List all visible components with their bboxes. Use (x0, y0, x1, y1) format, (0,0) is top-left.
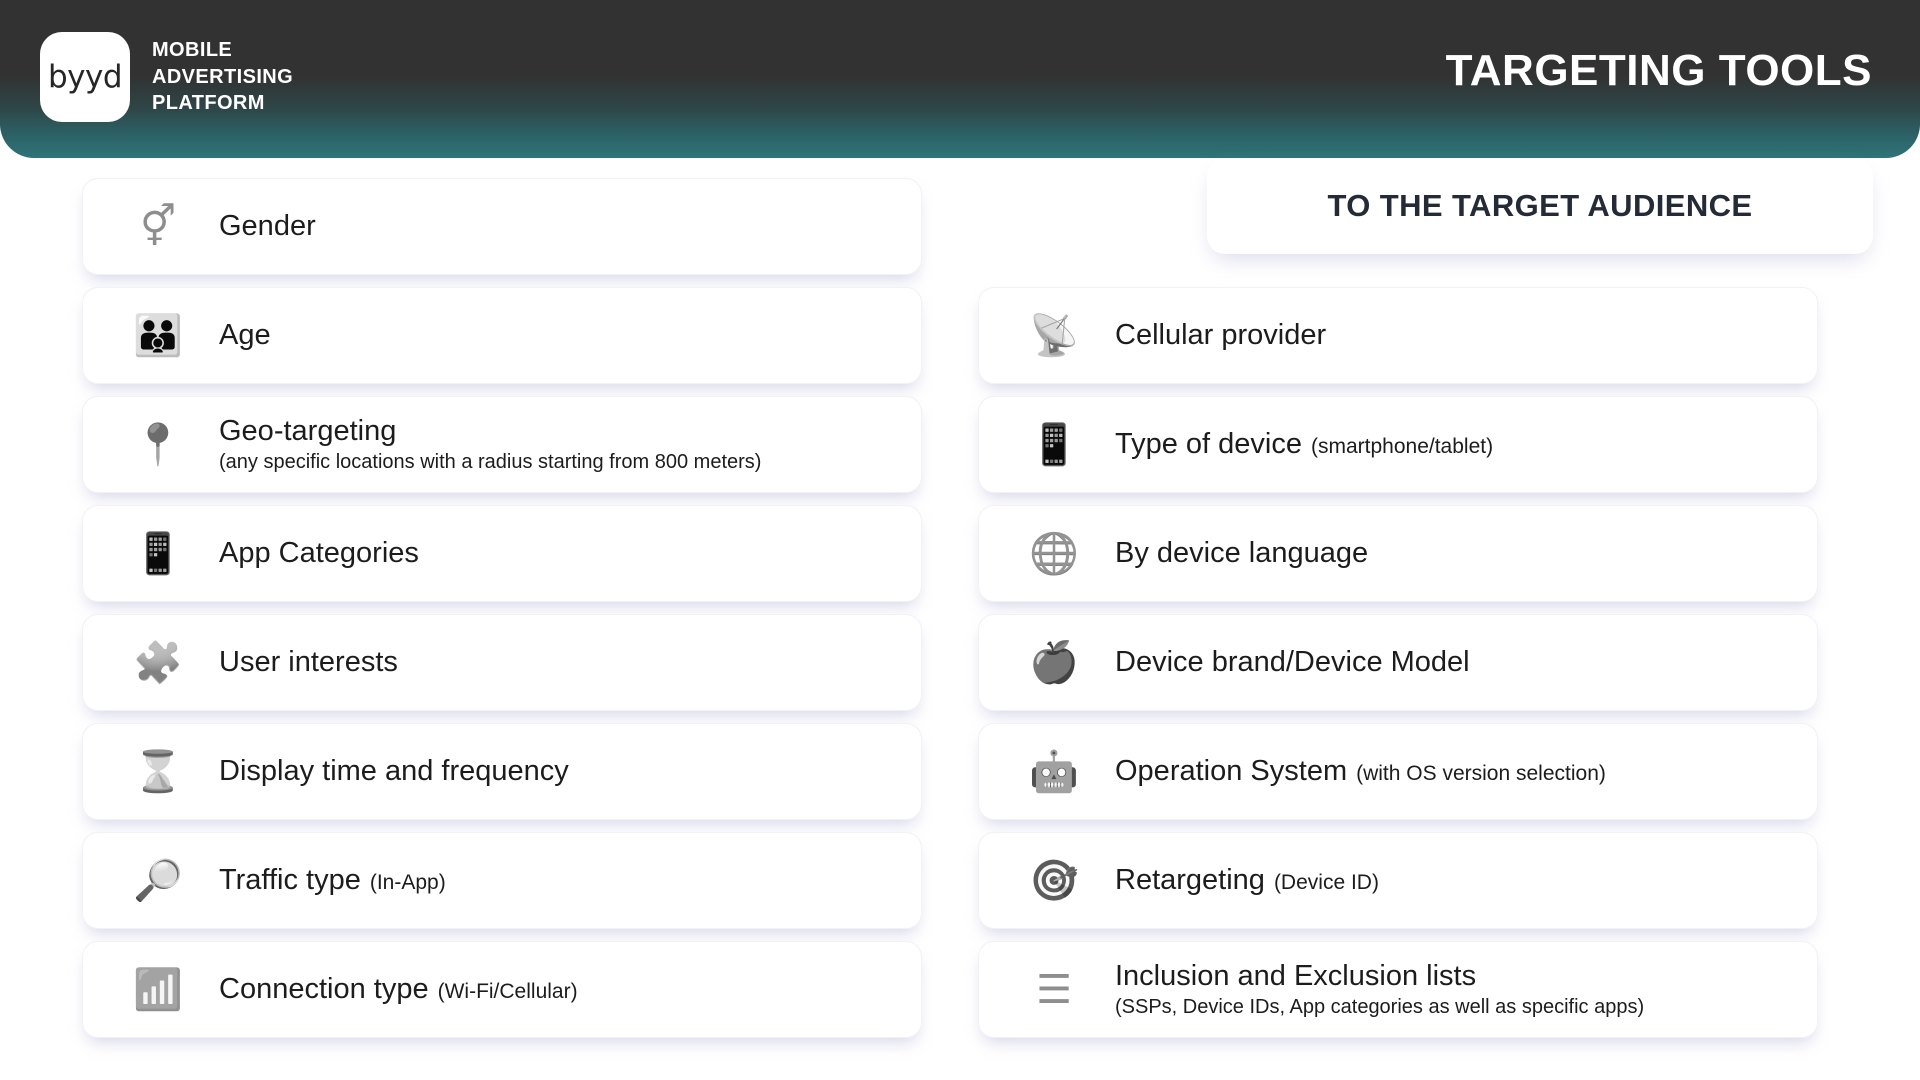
feature-card-body: Cellular provider (1115, 318, 1326, 352)
feature-card-body: By device language (1115, 536, 1368, 570)
feature-card[interactable]: 📡Cellular provider (978, 287, 1818, 384)
feature-card[interactable]: 🍎Device brand/Device Model (978, 614, 1818, 711)
feature-card-title: By device language (1115, 536, 1368, 570)
target-audience-label: TO THE TARGET AUDIENCE (1327, 188, 1752, 224)
brand-tagline: MOBILE ADVERTISING PLATFORM (152, 37, 293, 117)
gender-symbols-icon: ⚥ (129, 198, 187, 256)
smartphone-icon: 📱 (1025, 416, 1083, 474)
feature-card-titleline: Connection type(Wi-Fi/Cellular) (219, 972, 578, 1006)
feature-card-note: (with OS version selection) (1356, 761, 1606, 786)
feature-card-title: Display time and frequency (219, 754, 569, 788)
feature-card-titleline: Traffic type(In-App) (219, 863, 446, 897)
page-header: byyd MOBILE ADVERTISING PLATFORM TARGETI… (0, 0, 1920, 158)
feature-card-titleline: Geo-targeting (219, 414, 761, 448)
bulleted-list-icon: ☰ (1025, 961, 1083, 1019)
feature-card-body: Inclusion and Exclusion lists(SSPs, Devi… (1115, 959, 1644, 1020)
feature-card-body: Gender (219, 209, 316, 243)
apple-fruit-icon: 🍎 (1025, 634, 1083, 692)
feature-card-titleline: Cellular provider (1115, 318, 1326, 352)
hourglass-icon: ⌛ (129, 743, 187, 801)
feature-card-titleline: By device language (1115, 536, 1368, 570)
brand-lockup: byyd MOBILE ADVERTISING PLATFORM (40, 32, 293, 122)
feature-card[interactable]: 🎯Retargeting(Device ID) (978, 832, 1818, 929)
page-with-magnifier-icon: 🔎 (129, 852, 187, 910)
feature-card-body: Age (219, 318, 271, 352)
feature-card-titleline: Device brand/Device Model (1115, 645, 1470, 679)
feature-card-body: Type of device(smartphone/tablet) (1115, 427, 1493, 461)
feature-card-title: User interests (219, 645, 398, 679)
feature-card-title: Operation System (1115, 754, 1347, 788)
feature-card[interactable]: ☰Inclusion and Exclusion lists(SSPs, Dev… (978, 941, 1818, 1038)
feature-card-body: Traffic type(In-App) (219, 863, 446, 897)
feature-card[interactable]: 👪Age (82, 287, 922, 384)
feature-card[interactable]: 📶Connection type(Wi-Fi/Cellular) (82, 941, 922, 1038)
map-pin-icon: 📍 (129, 416, 187, 474)
feature-card-note: (Device ID) (1274, 870, 1379, 895)
feature-card-subtitle: (SSPs, Device IDs, App categories as wel… (1115, 995, 1644, 1020)
family-people-icon: 👪 (129, 307, 187, 365)
feature-card-title: Traffic type (219, 863, 361, 897)
feature-card-subtitle: (any specific locations with a radius st… (219, 450, 761, 475)
feature-card-title: Cellular provider (1115, 318, 1326, 352)
brand-line-1: MOBILE (152, 37, 293, 64)
feature-card-title: Type of device (1115, 427, 1302, 461)
feature-card[interactable]: ⚥Gender (82, 178, 922, 275)
feature-card[interactable]: 🤖Operation System(with OS version select… (978, 723, 1818, 820)
feature-card-titleline: Age (219, 318, 271, 352)
right-feature-column: 📡Cellular provider📱Type of device(smartp… (978, 287, 1818, 1038)
byyd-logo-tile: byyd (40, 32, 130, 122)
feature-card-titleline: App Categories (219, 536, 419, 570)
feature-card-note: (smartphone/tablet) (1311, 434, 1493, 459)
feature-card-titleline: User interests (219, 645, 398, 679)
feature-card-note: (In-App) (370, 870, 446, 895)
brand-line-3: PLATFORM (152, 90, 293, 117)
feature-card-title: Device brand/Device Model (1115, 645, 1470, 679)
feature-card[interactable]: 🌐By device language (978, 505, 1818, 602)
feature-card-body: Geo-targeting(any specific locations wit… (219, 414, 761, 475)
feature-card-titleline: Type of device(smartphone/tablet) (1115, 427, 1493, 461)
android-robot-icon: 🤖 (1025, 743, 1083, 801)
page-title: TARGETING TOOLS (1446, 46, 1872, 96)
feature-card[interactable]: 📱Type of device(smartphone/tablet) (978, 396, 1818, 493)
hand-with-antenna-icon: 📡 (1025, 307, 1083, 365)
feature-card-title: Age (219, 318, 271, 352)
feature-card-body: App Categories (219, 536, 419, 570)
feature-card-titleline: Display time and frequency (219, 754, 569, 788)
feature-card-titleline: Inclusion and Exclusion lists (1115, 959, 1644, 993)
feature-card-body: Device brand/Device Model (1115, 645, 1470, 679)
feature-card[interactable]: 📍Geo-targeting(any specific locations wi… (82, 396, 922, 493)
feature-card-title: Inclusion and Exclusion lists (1115, 959, 1476, 993)
left-feature-column: ⚥Gender👪Age📍Geo-targeting(any specific l… (82, 178, 922, 1038)
feature-card-body: User interests (219, 645, 398, 679)
feature-card-title: Connection type (219, 972, 429, 1006)
feature-card-body: Display time and frequency (219, 754, 569, 788)
feature-card-title: App Categories (219, 536, 419, 570)
feature-card-titleline: Retargeting(Device ID) (1115, 863, 1379, 897)
target-dartboard-icon: 🎯 (1025, 852, 1083, 910)
brand-line-2: ADVERTISING (152, 64, 293, 91)
feature-card-body: Connection type(Wi-Fi/Cellular) (219, 972, 578, 1006)
feature-card-body: Operation System(with OS version selecti… (1115, 754, 1606, 788)
feature-card[interactable]: ⌛Display time and frequency (82, 723, 922, 820)
feature-card-titleline: Operation System(with OS version selecti… (1115, 754, 1606, 788)
wifi-signal-icon: 📶 (129, 961, 187, 1019)
feature-card-title: Retargeting (1115, 863, 1265, 897)
target-audience-banner: TO THE TARGET AUDIENCE (1207, 158, 1873, 254)
feature-card-titleline: Gender (219, 209, 316, 243)
translate-language-icon: 🌐 (1025, 525, 1083, 583)
puzzle-piece-icon: 🧩 (129, 634, 187, 692)
feature-card-note: (Wi-Fi/Cellular) (438, 979, 578, 1004)
feature-card[interactable]: 🔎Traffic type(In-App) (82, 832, 922, 929)
phone-apps-icon: 📱 (129, 525, 187, 583)
byyd-wordmark: byyd (48, 62, 122, 93)
feature-card-title: Geo-targeting (219, 414, 396, 448)
feature-card[interactable]: 🧩User interests (82, 614, 922, 711)
feature-card[interactable]: 📱App Categories (82, 505, 922, 602)
feature-card-body: Retargeting(Device ID) (1115, 863, 1379, 897)
targeting-tools-infographic: byyd MOBILE ADVERTISING PLATFORM TARGETI… (0, 0, 1920, 1080)
feature-card-title: Gender (219, 209, 316, 243)
